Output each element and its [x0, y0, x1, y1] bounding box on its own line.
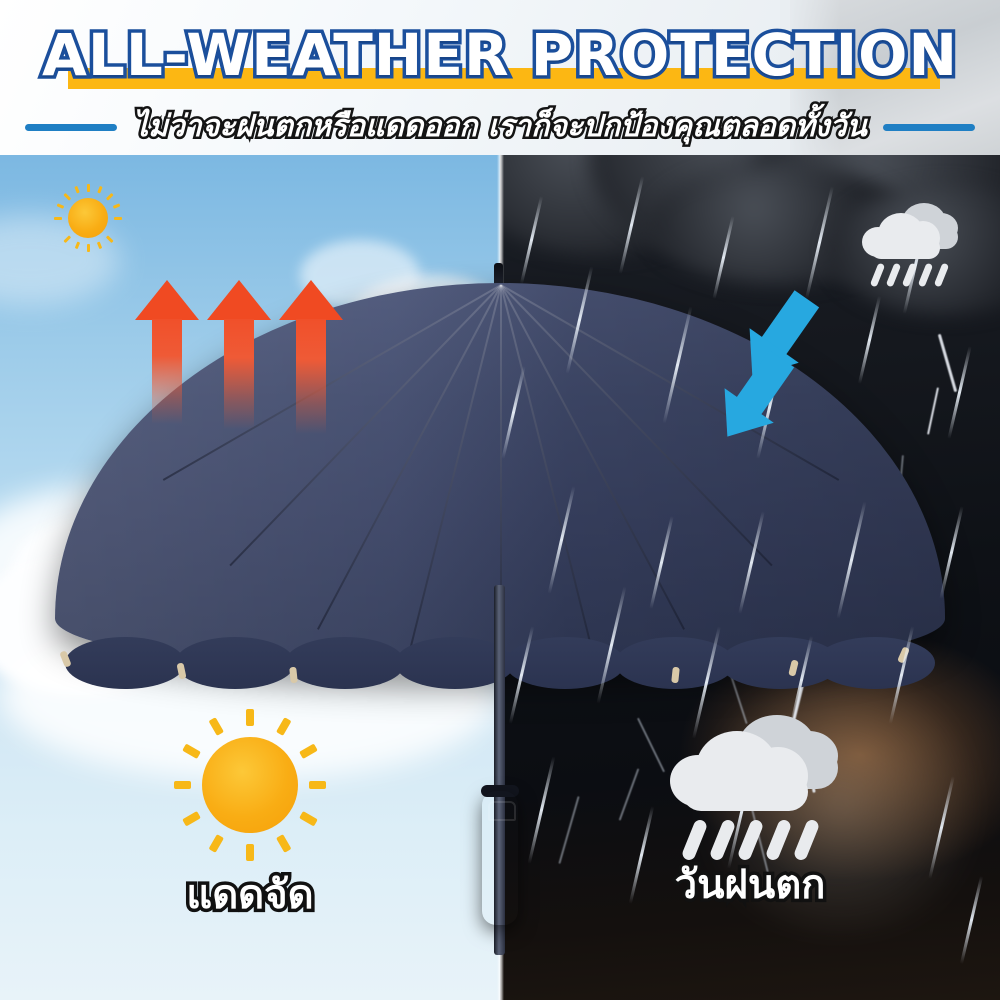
handle-detail	[488, 801, 516, 821]
canopy-scallop	[505, 637, 625, 689]
page-title: ALL-WEATHER PROTECTION	[0, 18, 1000, 92]
canopy-scallop	[65, 637, 185, 689]
subtitle-row: ไม่ว่าจะฝนตกหรือแดดออก เราก็จะปกป้องคุณต…	[0, 104, 1000, 150]
hero-photo: แดดจัด วันฝนตก	[0, 155, 1000, 1000]
sun-disc	[202, 737, 298, 833]
header: ALL-WEATHER PROTECTION ไม่ว่าจะฝนตกหรือแ…	[0, 0, 1000, 155]
label-rainy: วันฝนตก	[500, 861, 1000, 909]
label-sunny: แดดจัด	[0, 871, 500, 919]
divider-dash-right	[883, 124, 975, 131]
cloud-front	[870, 237, 940, 259]
page-subtitle: ไม่ว่าจะฝนตกหรือแดดออก เราก็จะปกป้องคุณต…	[133, 107, 867, 147]
canopy-scallop	[175, 637, 295, 689]
promo-banner: ALL-WEATHER PROTECTION ไม่ว่าจะฝนตกหรือแ…	[0, 0, 1000, 1000]
divider-dash-left	[25, 124, 117, 131]
title-block: ALL-WEATHER PROTECTION	[0, 18, 1000, 94]
sun-disc	[68, 198, 108, 238]
canopy-scallop	[815, 637, 935, 689]
canopy-scallop	[285, 637, 405, 689]
cloud-front	[682, 773, 808, 811]
